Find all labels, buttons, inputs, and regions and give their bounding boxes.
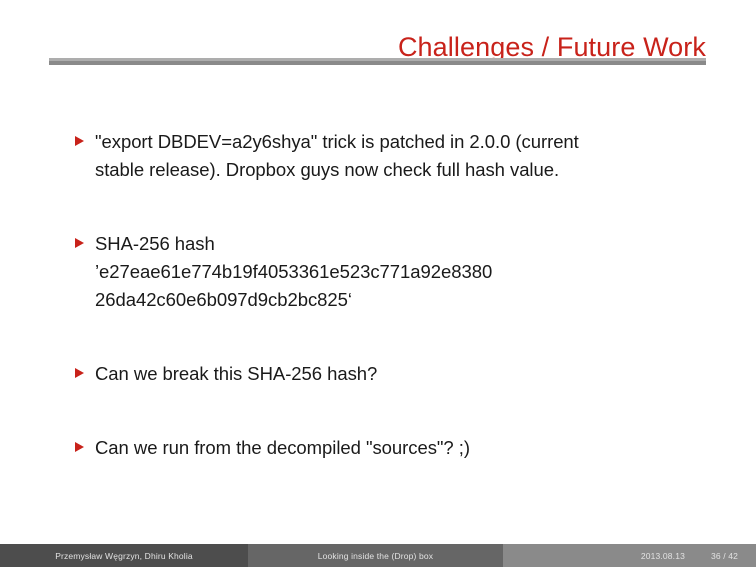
slide-content: "export DBDEV=a2y6shya" trick is patched… bbox=[0, 128, 756, 462]
footer-date: 2013.08.13 bbox=[641, 551, 685, 561]
list-item: Can we break this SHA-256 hash? bbox=[0, 360, 756, 388]
list-item: SHA-256 hash ’e27eae61e774b19f4053361e52… bbox=[0, 230, 756, 314]
bullet-sha256-hash: SHA-256 hash ’e27eae61e774b19f4053361e52… bbox=[95, 230, 756, 314]
list-item: Can we run from the decompiled "sources"… bbox=[0, 434, 756, 462]
footer-subject-label: Looking inside the (Drop) box bbox=[318, 551, 433, 561]
slide: Challenges / Future Work "export DBDEV=a… bbox=[0, 0, 756, 567]
bullet-break-hash: Can we break this SHA-256 hash? bbox=[95, 360, 756, 388]
footer-page-number: 36 / 42 bbox=[711, 551, 738, 561]
footer-subject: Looking inside the (Drop) box bbox=[248, 544, 503, 567]
slide-footer: Przemysław Węgrzyn, Dhiru Kholia Looking… bbox=[0, 544, 756, 567]
footer-authors-label: Przemysław Węgrzyn, Dhiru Kholia bbox=[55, 551, 193, 561]
triangle-bullet-icon bbox=[75, 368, 84, 378]
triangle-bullet-icon bbox=[75, 136, 84, 146]
triangle-bullet-icon bbox=[75, 238, 84, 248]
bullet-export-trick: "export DBDEV=a2y6shya" trick is patched… bbox=[95, 128, 756, 184]
title-divider-bottom bbox=[49, 61, 706, 65]
footer-meta: 2013.08.13 36 / 42 bbox=[503, 544, 756, 567]
triangle-bullet-icon bbox=[75, 442, 84, 452]
footer-authors: Przemysław Węgrzyn, Dhiru Kholia bbox=[0, 544, 248, 567]
title-divider bbox=[49, 58, 706, 65]
slide-title-bar: Challenges / Future Work bbox=[0, 12, 706, 82]
list-item: "export DBDEV=a2y6shya" trick is patched… bbox=[0, 128, 756, 184]
bullet-run-from-sources: Can we run from the decompiled "sources"… bbox=[95, 434, 756, 462]
